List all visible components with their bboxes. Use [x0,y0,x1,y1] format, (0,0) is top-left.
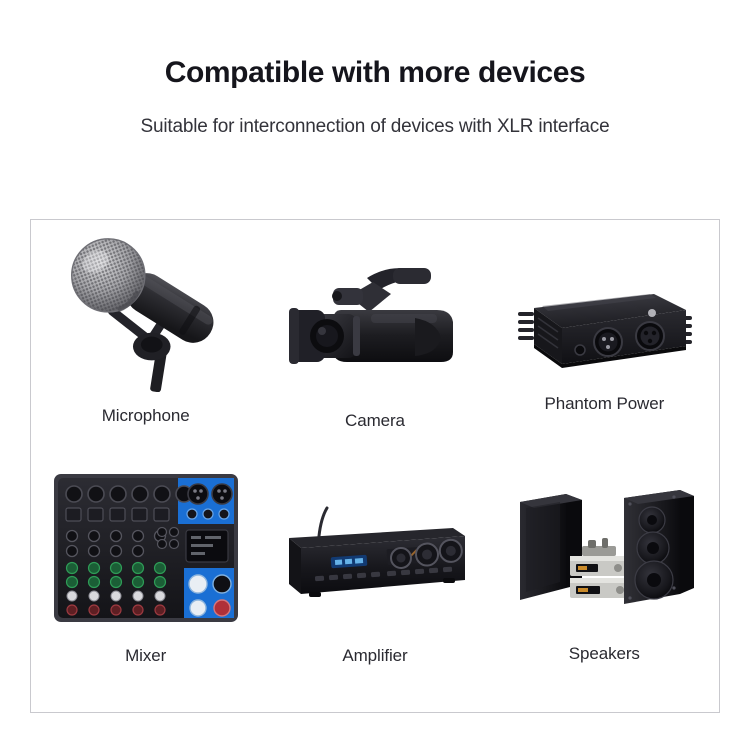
device-label: Camera [260,411,489,431]
device-cell-microphone[interactable]: Microphone [31,220,260,466]
device-cell-mixer[interactable]: Mixer [31,466,260,712]
page-subtitle: Suitable for interconnection of devices … [0,116,750,138]
page-header: Compatible with more devices Suitable fo… [0,0,750,138]
device-cell-camera[interactable]: Camera [260,220,489,466]
device-label: Microphone [31,406,260,426]
device-cell-amplifier[interactable]: Amplifier [260,466,489,712]
device-grid: Microphone [31,220,719,712]
phantom-power-icon [490,280,719,380]
audio-mixer-icon [31,468,260,628]
microphone-icon [31,224,260,392]
device-label: Mixer [31,646,260,666]
compatibility-page: Compatible with more devices Suitable fo… [0,0,750,750]
page-title: Compatible with more devices [0,56,750,90]
device-label: Phantom Power [490,394,719,414]
camcorder-icon [260,248,489,388]
device-compatibility-card: Microphone [30,219,720,713]
speakers-icon [490,484,719,619]
device-label: Speakers [490,644,719,664]
amplifier-icon [260,502,489,612]
device-cell-speakers[interactable]: Speakers [490,466,719,712]
device-cell-phantom-power[interactable]: Phantom Power [490,220,719,466]
device-label: Amplifier [260,646,489,666]
